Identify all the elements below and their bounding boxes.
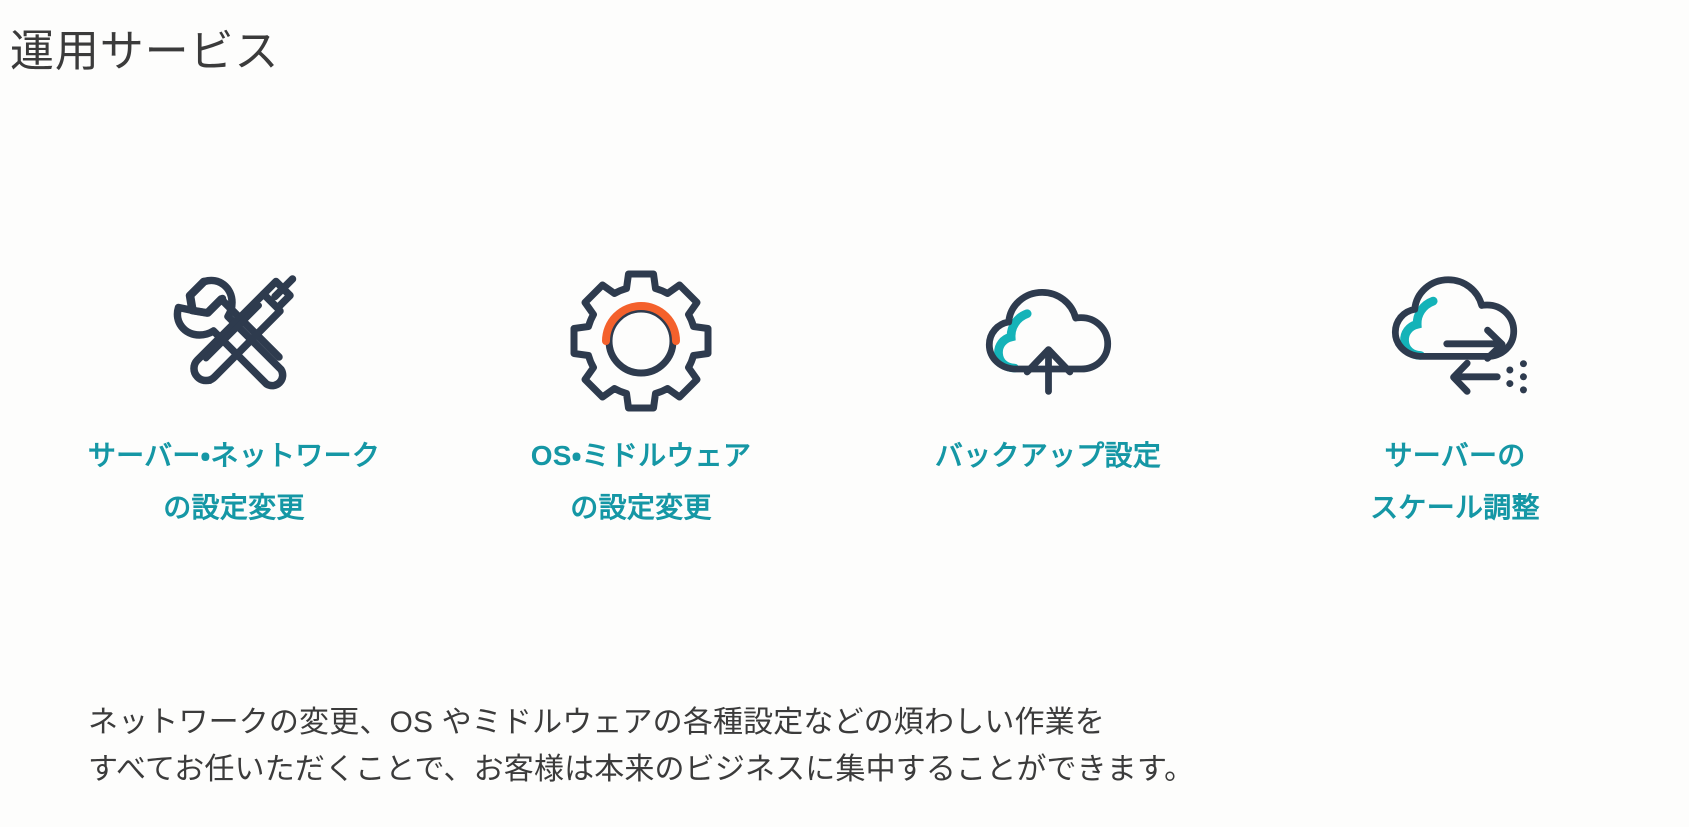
page-title: 運用サービス bbox=[10, 24, 279, 79]
service-card-label: サーバーの スケール調整 bbox=[1370, 430, 1540, 534]
slide-root: 運用サービス bbox=[0, 0, 1689, 827]
label-line-1: サーバー・ネットワーク bbox=[88, 440, 380, 471]
wrench-screwdriver-icon bbox=[152, 262, 317, 412]
label-line-2: の設定変更 bbox=[531, 482, 752, 534]
label-line-1: サーバーの bbox=[1384, 440, 1525, 471]
service-card-label: OS・ミドルウェア の設定変更 bbox=[531, 430, 752, 534]
description-line-1: ネットワークの変更、OS やミドルウェアの各種設定などの煩わしい作業を bbox=[88, 700, 1194, 747]
label-line-1: バックアップ設定 bbox=[935, 440, 1161, 471]
service-card-backup[interactable]: バックアップ設定 bbox=[848, 262, 1248, 482]
service-card-row: サーバー・ネットワーク の設定変更 OS・ミドルウェ bbox=[0, 262, 1689, 534]
cloud-scale-icon bbox=[1373, 262, 1538, 412]
label-line-2: スケール調整 bbox=[1370, 482, 1540, 534]
label-line-1: OS・ミドルウェア bbox=[531, 440, 752, 471]
service-card-label: バックアップ設定 bbox=[935, 430, 1161, 482]
cloud-upload-icon bbox=[966, 262, 1131, 412]
description-text: ネットワークの変更、OS やミドルウェアの各種設定などの煩わしい作業を すべてお… bbox=[88, 700, 1194, 793]
service-card-label: サーバー・ネットワーク の設定変更 bbox=[88, 430, 380, 534]
description-line-2: すべてお任いただくことで、お客様は本来のビジネスに集中することができます。 bbox=[88, 747, 1194, 794]
service-card-scale[interactable]: サーバーの スケール調整 bbox=[1255, 262, 1655, 534]
service-card-server-network[interactable]: サーバー・ネットワーク の設定変更 bbox=[34, 262, 434, 534]
gear-icon bbox=[559, 262, 724, 412]
label-line-2: の設定変更 bbox=[88, 482, 380, 534]
service-card-os-middleware[interactable]: OS・ミドルウェア の設定変更 bbox=[441, 262, 841, 534]
